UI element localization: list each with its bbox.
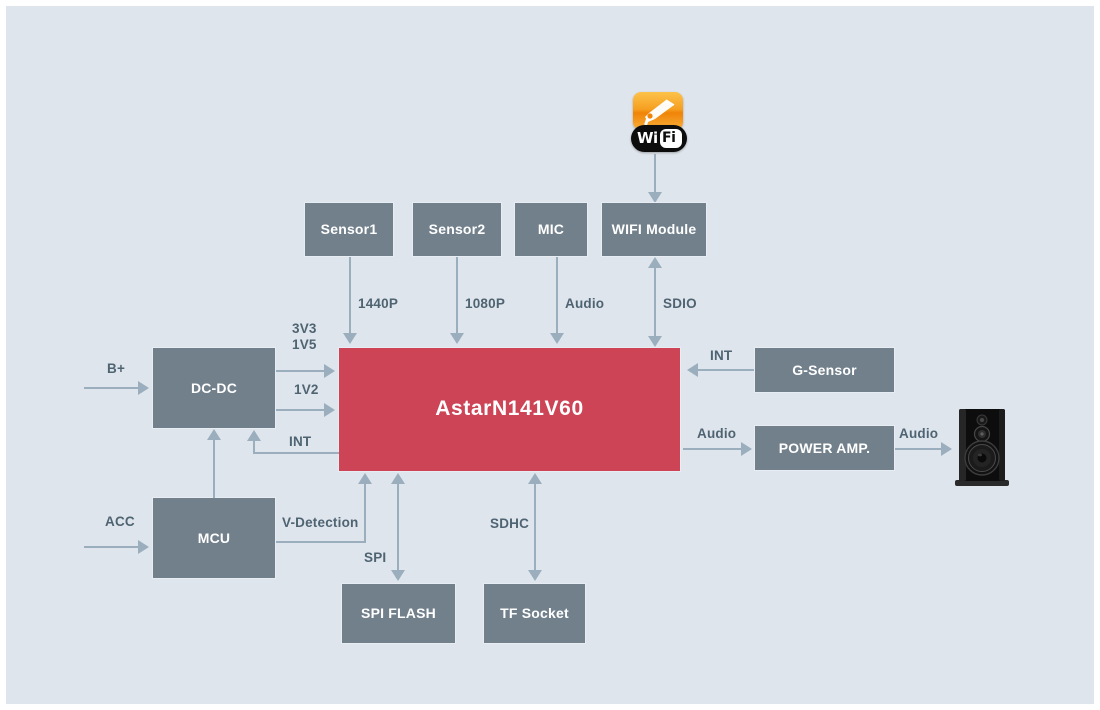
arrowhead-wifi-module-to-chip	[648, 336, 662, 347]
block-wifi-module[interactable]: WIFI Module	[601, 202, 707, 257]
connector-spi	[397, 484, 399, 572]
block-power-amp-label: POWER AMP.	[779, 440, 870, 456]
label-spi: SPI	[364, 550, 386, 565]
block-mic[interactable]: MIC	[514, 202, 588, 257]
label-v-detection: V-Detection	[282, 515, 358, 530]
connector-wifi-icon-to-module	[654, 154, 656, 194]
arrowhead-vdetection-to-chip	[358, 473, 372, 484]
label-bplus: B+	[107, 361, 125, 376]
label-1440p: 1440P	[358, 296, 398, 311]
connector-int-chip-to-dcdc-vertical	[253, 441, 255, 454]
arrowhead-chip-to-wifi-module	[648, 257, 662, 268]
diagram-board: Wi Fi Sensor1 Sensor2 MIC WIFI Module 14…	[6, 6, 1094, 704]
arrowhead-mic-to-chip	[550, 333, 564, 344]
arrowhead-spi-to-flash	[391, 570, 405, 581]
wifi-logo-fi-text: Fi	[662, 130, 675, 146]
block-sensor2[interactable]: Sensor2	[412, 202, 502, 257]
block-power-amp[interactable]: POWER AMP.	[754, 425, 895, 471]
arrowhead-dcdc-3v3-1v5	[324, 364, 335, 378]
block-spi-flash-label: SPI FLASH	[361, 605, 436, 621]
connector-mic-to-chip	[556, 257, 558, 335]
label-int-gsensor: INT	[710, 348, 732, 363]
block-wifi-module-label: WIFI Module	[612, 221, 697, 237]
connector-dcdc-1v2	[276, 409, 326, 411]
arrowhead-audio-to-speaker	[941, 442, 952, 456]
label-acc: ACC	[105, 514, 135, 529]
connector-vdetection-vertical	[364, 484, 366, 543]
arrowhead-acc-in	[138, 540, 149, 554]
loudspeaker-glyph	[953, 406, 1011, 488]
label-sdio: SDIO	[663, 296, 697, 311]
arrowhead-bplus-in	[138, 381, 149, 395]
block-dc-dc-label: DC-DC	[191, 380, 237, 396]
arrowhead-sensor1-to-chip	[343, 333, 357, 344]
arrowhead-mcu-to-dcdc	[207, 429, 221, 440]
label-1v5: 1V5	[292, 337, 317, 352]
arrowhead-dcdc-1v2	[324, 403, 335, 417]
label-1080p: 1080P	[465, 296, 505, 311]
connector-mcu-to-dcdc	[213, 440, 215, 498]
block-mcu[interactable]: MCU	[152, 497, 276, 579]
connector-int-chip-to-dcdc-horizontal	[253, 452, 339, 454]
arrowhead-spi-to-chip	[391, 473, 405, 484]
block-tf-socket-label: TF Socket	[500, 605, 569, 621]
wifi-logo-fi-box: Fi	[660, 129, 682, 148]
block-mic-label: MIC	[538, 221, 564, 237]
block-g-sensor[interactable]: G-Sensor	[754, 347, 895, 393]
label-audio-mic: Audio	[565, 296, 604, 311]
arrowhead-int-chip-to-dcdc	[247, 430, 261, 441]
block-sensor1[interactable]: Sensor1	[304, 202, 394, 257]
connector-audio-to-speaker	[895, 448, 943, 450]
wifi-logo-wi-text: Wi	[637, 129, 658, 147]
connector-int-gsensor	[698, 369, 754, 371]
wifi-logo: Wi Fi	[631, 125, 687, 152]
diagram-canvas: Wi Fi Sensor1 Sensor2 MIC WIFI Module 14…	[0, 0, 1100, 710]
arrowhead-int-gsensor-to-chip	[687, 363, 698, 377]
arrowhead-sdhc-to-chip	[528, 473, 542, 484]
connector-acc-in	[84, 546, 140, 548]
label-audio-to-speaker: Audio	[899, 426, 938, 441]
block-mcu-label: MCU	[198, 530, 230, 546]
block-tf-socket[interactable]: TF Socket	[483, 583, 586, 644]
label-audio-to-amp: Audio	[697, 426, 736, 441]
arrowhead-audio-to-amp	[741, 442, 752, 456]
label-1v2: 1V2	[294, 382, 319, 397]
label-sdhc: SDHC	[490, 516, 529, 531]
connector-bplus-in	[84, 387, 140, 389]
connector-audio-to-amp	[683, 448, 743, 450]
connector-sdhc	[534, 484, 536, 572]
connector-dcdc-3v3-1v5	[276, 370, 326, 372]
block-g-sensor-label: G-Sensor	[792, 362, 857, 378]
label-3v3: 3V3	[292, 321, 317, 336]
arrowhead-sdhc-to-tf	[528, 570, 542, 581]
arrowhead-sensor2-to-chip	[450, 333, 464, 344]
block-sensor1-label: Sensor1	[321, 221, 378, 237]
block-main-chip-label: AstarN141V60	[435, 397, 583, 421]
connector-sensor1-to-chip	[349, 257, 351, 335]
connector-vdetection-horizontal	[276, 541, 366, 543]
block-spi-flash[interactable]: SPI FLASH	[341, 583, 456, 644]
connector-wifi-module-to-chip	[654, 268, 656, 338]
label-int-dcdc: INT	[289, 434, 311, 449]
connector-sensor2-to-chip	[456, 257, 458, 335]
loudspeaker-icon	[953, 406, 1011, 493]
block-dc-dc[interactable]: DC-DC	[152, 347, 276, 429]
block-main-chip[interactable]: AstarN141V60	[338, 347, 681, 472]
block-sensor2-label: Sensor2	[429, 221, 486, 237]
